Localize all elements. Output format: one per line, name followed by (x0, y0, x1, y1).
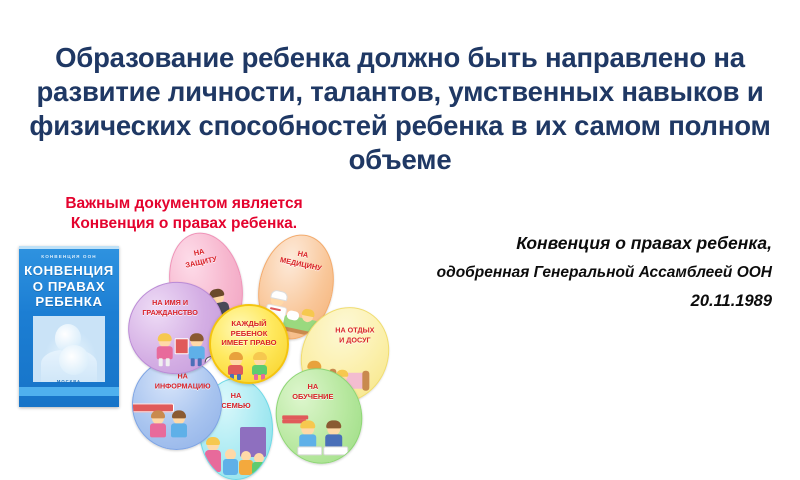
important-document-note-line2: Конвенция о правах ребенка. (34, 214, 334, 234)
slide-canvas: Образование ребенка должно быть направле… (0, 0, 800, 450)
flower-petal-obuchenie-label: НА ОБУЧЕНИЕ (273, 382, 353, 401)
attribution-line-1: Конвенция о правах ребенка, (352, 228, 772, 258)
book-publisher-line: КОНВЕНЦИЯ ООН (19, 254, 119, 259)
flower-petal-imya-label: НА ИМЯ И ГРАЖДАНСТВО (125, 298, 215, 317)
book-title-text: КОНВЕНЦИЯ О ПРАВАХ РЕБЕНКА (19, 263, 119, 310)
flower-petal-informatsiyu-art (128, 403, 216, 444)
book-title-line-3: РЕБЕНКА (19, 294, 119, 310)
book-bottom-stripe (19, 387, 119, 396)
flower-center-label: КАЖДЫЙ РЕБЕНОК ИМЕЕТ ПРАВО (214, 319, 284, 348)
book-footer-text: МОСКВА (19, 379, 119, 384)
flower-petal-obuchenie-art (282, 415, 366, 458)
page-title: Образование ребенка должно быть направле… (18, 41, 782, 177)
flower-petal-meditsinu-label: НА МЕДИЦИНУ (267, 243, 337, 276)
important-document-note: Важным документом является Конвенция о п… (34, 194, 334, 233)
convention-book-cover-image: КОНВЕНЦИЯ ООН КОНВЕНЦИЯ О ПРАВАХ РЕБЕНКА… (19, 246, 119, 407)
attribution-block: Конвенция о правах ребенка, одобренная Г… (352, 228, 772, 316)
flower-center-every-child-has-right: КАЖДЫЙ РЕБЕНОК ИМЕЕТ ПРАВО (209, 304, 289, 384)
book-top-rule (19, 246, 119, 249)
flower-petal-informatsiyu-label: НА ИНФОРМАЦИЮ (141, 372, 225, 391)
flower-petal-zashchitu-label: НА ЗАЩИТУ (166, 241, 235, 273)
attribution-line-2: одобренная Генеральной Ассамблеей ООН (352, 258, 772, 287)
book-title-line-1: КОНВЕНЦИЯ (19, 263, 119, 279)
rights-flower-diagram: НА ЗАЩИТУ (128, 232, 386, 450)
important-document-note-line1: Важным документом является (34, 194, 334, 214)
photo-baby-head (59, 345, 89, 375)
flower-petal-otdykh-label: НА ОТДЫХ И ДОСУГ (315, 325, 395, 344)
book-cover-photo-mother-and-child (33, 316, 105, 382)
attribution-date: 20.11.1989 (352, 287, 772, 316)
book-title-line-2: О ПРАВАХ (19, 279, 119, 295)
